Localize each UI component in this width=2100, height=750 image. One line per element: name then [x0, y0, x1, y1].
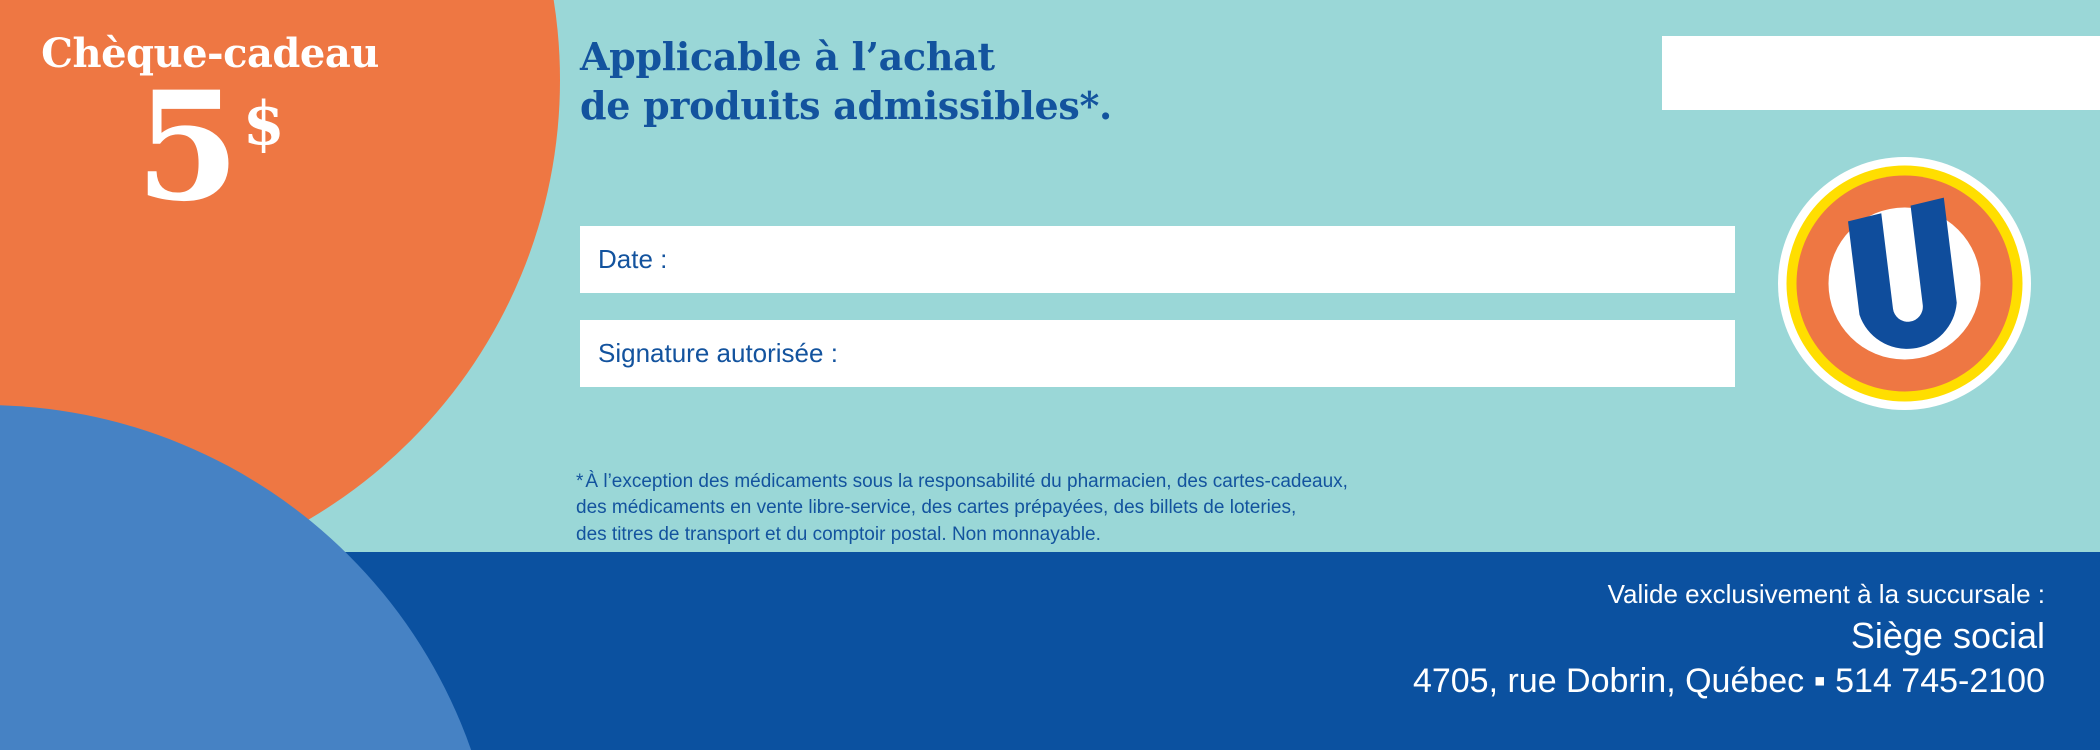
signature-field-label: Signature autorisée : [580, 338, 838, 369]
disclaimer-body: À l’exception des médicaments sous la re… [576, 471, 1348, 544]
recipient-write-in-box[interactable] [1662, 36, 2100, 110]
currency-symbol: $ [243, 94, 285, 154]
amount-panel: Chèque-cadeau 5 $ [0, 0, 420, 260]
signature-field[interactable]: Signature autorisée : [580, 320, 1735, 387]
uniprix-u-logo [1778, 157, 2031, 410]
branch-info: Valide exclusivement à la succursale : S… [1413, 578, 2045, 702]
gift-certificate: Chèque-cadeau 5 $ Applicable à l’achat d… [0, 0, 2100, 750]
disclaimer-asterisk: * [576, 471, 583, 492]
date-field[interactable]: Date : [580, 226, 1735, 293]
amount-row: 5 $ [0, 78, 420, 216]
date-field-label: Date : [580, 244, 667, 275]
branch-name: Siège social [1413, 613, 2045, 658]
branch-label: Valide exclusivement à la succursale : [1413, 578, 2045, 611]
branch-address-phone: 4705, rue Dobrin, Québec ▪ 514 745-2100 [1413, 660, 2045, 703]
amount-value: 5 [135, 78, 236, 216]
headline: Applicable à l’achat de produits admissi… [580, 32, 1112, 131]
disclaimer-text: *À l’exception des médicaments sous la r… [576, 443, 1348, 548]
